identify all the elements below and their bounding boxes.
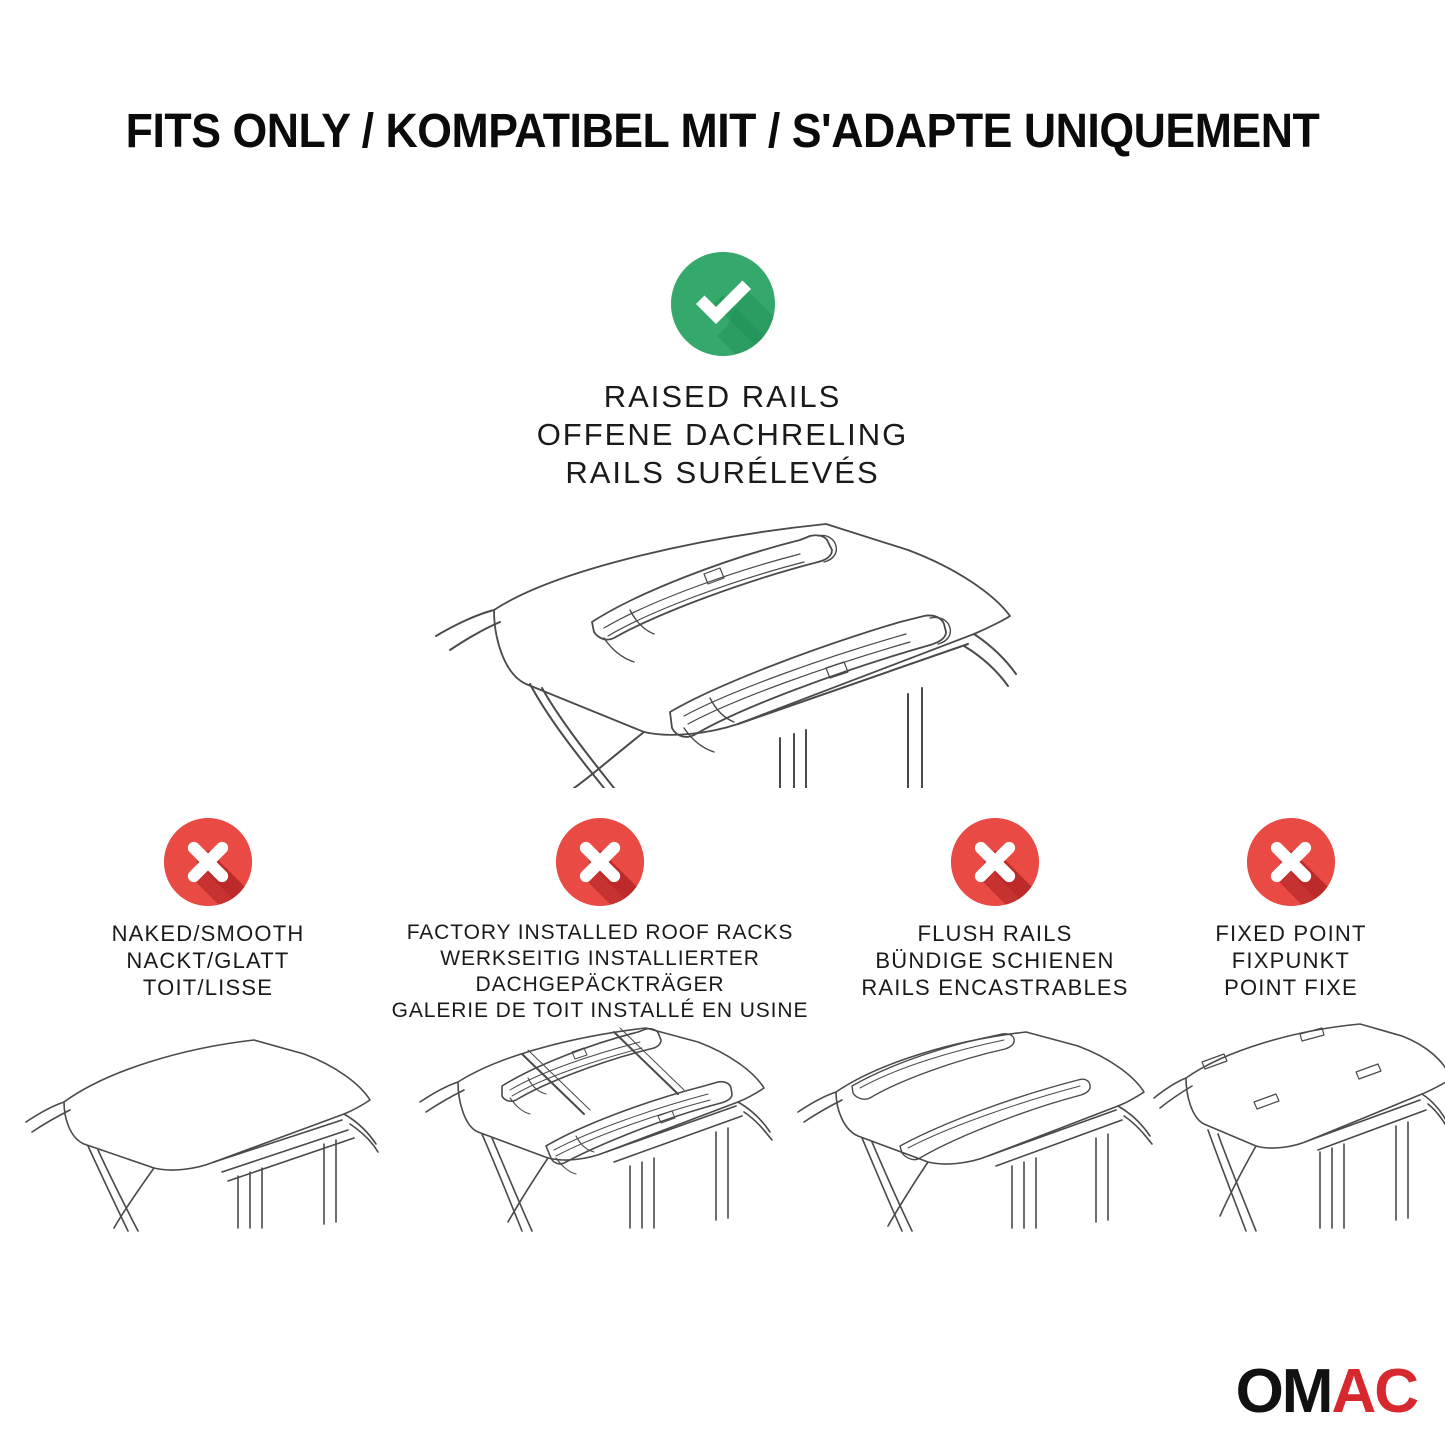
omac-logo-red-part: AC <box>1331 1357 1417 1426</box>
compatible-line-en: RAISED RAILS <box>0 378 1445 416</box>
incompatible-column-flush-rails: FLUSH RAILS BÜNDIGE SCHIENEN RAILS ENCAS… <box>836 818 1154 1001</box>
incompatible-line-en: FACTORY INSTALLED ROOF RACKS <box>368 920 832 946</box>
compatible-line-de: OFFENE DACHRELING <box>0 416 1445 454</box>
incompatible-line-fr: TOIT/LISSE <box>48 974 368 1001</box>
incompatible-caption: FIXED POINT FIXPUNKT POINT FIXE <box>1166 920 1416 1001</box>
incompatible-column-factory-roof-racks: FACTORY INSTALLED ROOF RACKS WERKSEITIG … <box>368 818 832 1024</box>
car-roof-naked-smooth-illustration <box>18 1006 398 1241</box>
omac-logo-black-part: OM <box>1236 1357 1332 1426</box>
page-title: FITS ONLY / KOMPATIBEL MIT / S'ADAPTE UN… <box>51 104 1395 160</box>
incompatible-line-en: FLUSH RAILS <box>836 920 1154 947</box>
red-x-circle-icon <box>951 818 1039 906</box>
compatible-line-fr: RAILS SURÉLEVÉS <box>0 454 1445 492</box>
incompatible-line-de-2: DACHGEPÄCKTRÄGER <box>368 972 832 998</box>
compatible-caption: RAISED RAILS OFFENE DACHRELING RAILS SUR… <box>0 378 1445 492</box>
compatible-block: RAISED RAILS OFFENE DACHRELING RAILS SUR… <box>0 252 1445 492</box>
car-roof-fixed-point-illustration <box>1150 1006 1445 1241</box>
incompatible-column-naked-smooth: NAKED/SMOOTH NACKT/GLATT TOIT/LISSE <box>48 818 368 1001</box>
green-check-circle-icon <box>671 252 775 356</box>
incompatible-caption: FLUSH RAILS BÜNDIGE SCHIENEN RAILS ENCAS… <box>836 920 1154 1001</box>
red-x-circle-icon <box>164 818 252 906</box>
car-roof-factory-roof-racks-illustration <box>406 1006 786 1241</box>
red-x-circle-icon <box>1247 818 1335 906</box>
incompatible-caption: NAKED/SMOOTH NACKT/GLATT TOIT/LISSE <box>48 920 368 1001</box>
omac-logo: OMAC <box>1236 1361 1417 1423</box>
incompatible-line-fr: RAILS ENCASTRABLES <box>836 974 1154 1001</box>
incompatible-line-de-1: WERKSEITIG INSTALLIERTER <box>368 946 832 972</box>
incompatible-line-en: NAKED/SMOOTH <box>48 920 368 947</box>
infographic-sheet: FITS ONLY / KOMPATIBEL MIT / S'ADAPTE UN… <box>0 0 1445 1445</box>
red-x-circle-icon <box>556 818 644 906</box>
incompatible-line-de: NACKT/GLATT <box>48 947 368 974</box>
car-roof-raised-rails-illustration <box>408 488 1038 788</box>
incompatible-line-de: BÜNDIGE SCHIENEN <box>836 947 1154 974</box>
incompatible-line-fr: POINT FIXE <box>1166 974 1416 1001</box>
incompatible-column-fixed-point: FIXED POINT FIXPUNKT POINT FIXE <box>1166 818 1416 1001</box>
incompatible-line-en: FIXED POINT <box>1166 920 1416 947</box>
car-roof-flush-rails-illustration <box>790 1006 1170 1241</box>
incompatible-line-de: FIXPUNKT <box>1166 947 1416 974</box>
